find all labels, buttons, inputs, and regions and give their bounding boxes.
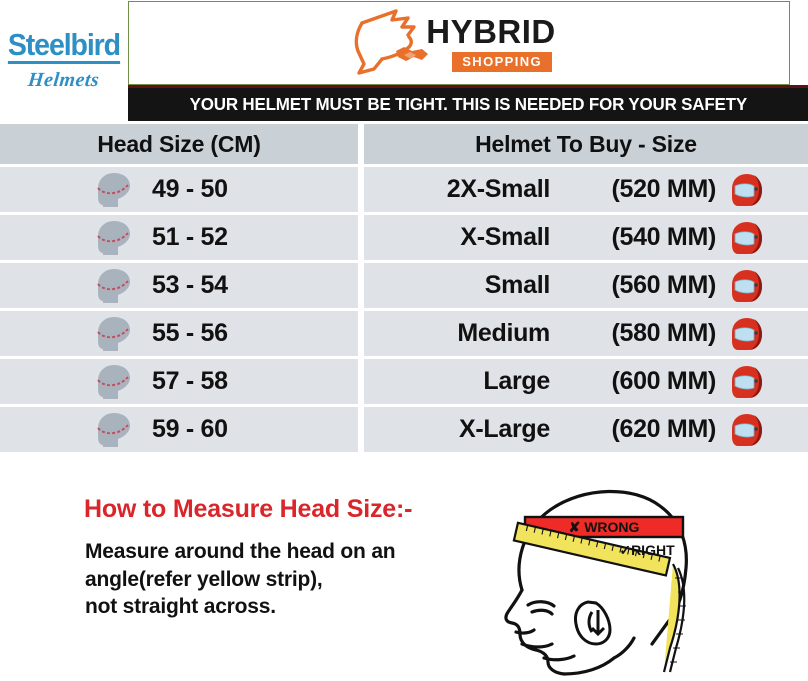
head-size-value: 57 - 58 bbox=[152, 367, 228, 396]
helmet-size-mm: (560 MM) bbox=[556, 271, 716, 300]
helmet-size-name: Large bbox=[400, 367, 550, 396]
measure-line-3: not straight across. bbox=[85, 593, 395, 621]
helmet-size-name: Medium bbox=[400, 319, 550, 348]
header-label-helmet-size: Helmet To Buy - Size bbox=[475, 131, 697, 158]
head-measuring-diagram: ✘ WRONG ✓RIGHT bbox=[492, 472, 808, 681]
helmet-size-name: X-Large bbox=[400, 415, 550, 444]
helmet-size-mm: (600 MM) bbox=[556, 367, 716, 396]
table-row: 55 - 56 Medium (580 MM) bbox=[0, 311, 808, 356]
head-silhouette-icon bbox=[94, 363, 134, 401]
head-size-value: 59 - 60 bbox=[152, 415, 228, 444]
safety-banner: YOUR HELMET MUST BE TIGHT. THIS IS NEEDE… bbox=[128, 85, 808, 121]
helmet-icon bbox=[730, 172, 764, 208]
header-label-head-size: Head Size (CM) bbox=[97, 131, 260, 158]
helmet-size-name: Small bbox=[400, 271, 550, 300]
head-silhouette-icon bbox=[94, 267, 134, 305]
hybrid-logo: HYBRID SHOPPING bbox=[352, 7, 556, 79]
how-to-measure-section: How to Measure Head Size:- Measure aroun… bbox=[0, 470, 808, 681]
helmet-icon bbox=[730, 412, 764, 448]
cell-head-size: 57 - 58 bbox=[0, 359, 358, 404]
table-row: 49 - 50 2X-Small (520 MM) bbox=[0, 167, 808, 212]
head-size-value: 55 - 56 bbox=[152, 319, 228, 348]
helmet-icon bbox=[730, 268, 764, 304]
right-label: ✓RIGHT bbox=[619, 542, 675, 558]
helmet-size-name: 2X-Small bbox=[400, 175, 550, 204]
cell-head-size: 51 - 52 bbox=[0, 215, 358, 260]
head-size-value: 51 - 52 bbox=[152, 223, 228, 252]
brand-name: Steelbird bbox=[8, 29, 120, 64]
steelbird-brand-logo: Steelbird Helmets bbox=[0, 0, 128, 121]
hybrid-title: HYBRID bbox=[426, 15, 556, 48]
helmet-size-name: X-Small bbox=[400, 223, 550, 252]
cell-helmet-size: Medium (580 MM) bbox=[364, 311, 808, 356]
hybrid-shopping-logo-box: HYBRID SHOPPING bbox=[128, 1, 790, 85]
helmet-icon bbox=[730, 364, 764, 400]
hybrid-wordmark: HYBRID SHOPPING bbox=[426, 15, 556, 72]
measure-line-2: angle(refer yellow strip), bbox=[85, 566, 395, 594]
helmet-icon bbox=[730, 220, 764, 256]
wrong-label: ✘ WRONG bbox=[569, 519, 640, 535]
cell-helmet-size: X-Small (540 MM) bbox=[364, 215, 808, 260]
table-body: 49 - 50 2X-Small (520 MM) 51 - 52 X-Smal… bbox=[0, 167, 808, 452]
size-chart-table: Head Size (CM) Helmet To Buy - Size 49 -… bbox=[0, 124, 808, 455]
brand-tagline: Helmets bbox=[27, 69, 101, 92]
helmet-size-mm: (620 MM) bbox=[556, 415, 716, 444]
cell-head-size: 49 - 50 bbox=[0, 167, 358, 212]
head-silhouette-icon bbox=[94, 171, 134, 209]
cell-helmet-size: 2X-Small (520 MM) bbox=[364, 167, 808, 212]
measure-line-1: Measure around the head on an bbox=[85, 538, 395, 566]
measure-title: How to Measure Head Size:- bbox=[84, 495, 412, 524]
helmet-size-chart-page: Steelbird Helmets bbox=[0, 0, 808, 681]
page-header: Steelbird Helmets bbox=[0, 0, 808, 121]
cell-helmet-size: Large (600 MM) bbox=[364, 359, 808, 404]
header-cell-helmet-size: Helmet To Buy - Size bbox=[364, 124, 808, 164]
table-row: 57 - 58 Large (600 MM) bbox=[0, 359, 808, 404]
helmet-size-mm: (580 MM) bbox=[556, 319, 716, 348]
shopping-badge: SHOPPING bbox=[452, 52, 552, 72]
table-row: 59 - 60 X-Large (620 MM) bbox=[0, 407, 808, 452]
head-size-value: 53 - 54 bbox=[152, 271, 228, 300]
helmet-size-mm: (540 MM) bbox=[556, 223, 716, 252]
cell-head-size: 53 - 54 bbox=[0, 263, 358, 308]
head-silhouette-icon bbox=[94, 219, 134, 257]
head-size-value: 49 - 50 bbox=[152, 175, 228, 204]
table-row: 53 - 54 Small (560 MM) bbox=[0, 263, 808, 308]
helmet-size-mm: (520 MM) bbox=[556, 175, 716, 204]
helmet-icon bbox=[730, 316, 764, 352]
head-silhouette-icon bbox=[94, 315, 134, 353]
safety-banner-text: YOUR HELMET MUST BE TIGHT. THIS IS NEEDE… bbox=[189, 94, 746, 115]
cell-head-size: 59 - 60 bbox=[0, 407, 358, 452]
cell-head-size: 55 - 56 bbox=[0, 311, 358, 356]
cell-helmet-size: Small (560 MM) bbox=[364, 263, 808, 308]
cell-helmet-size: X-Large (620 MM) bbox=[364, 407, 808, 452]
table-row: 51 - 52 X-Small (540 MM) bbox=[0, 215, 808, 260]
table-header-row: Head Size (CM) Helmet To Buy - Size bbox=[0, 124, 808, 164]
header-cell-head-size: Head Size (CM) bbox=[0, 124, 358, 164]
measure-instructions: Measure around the head on an angle(refe… bbox=[85, 538, 395, 621]
head-silhouette-icon bbox=[94, 411, 134, 449]
